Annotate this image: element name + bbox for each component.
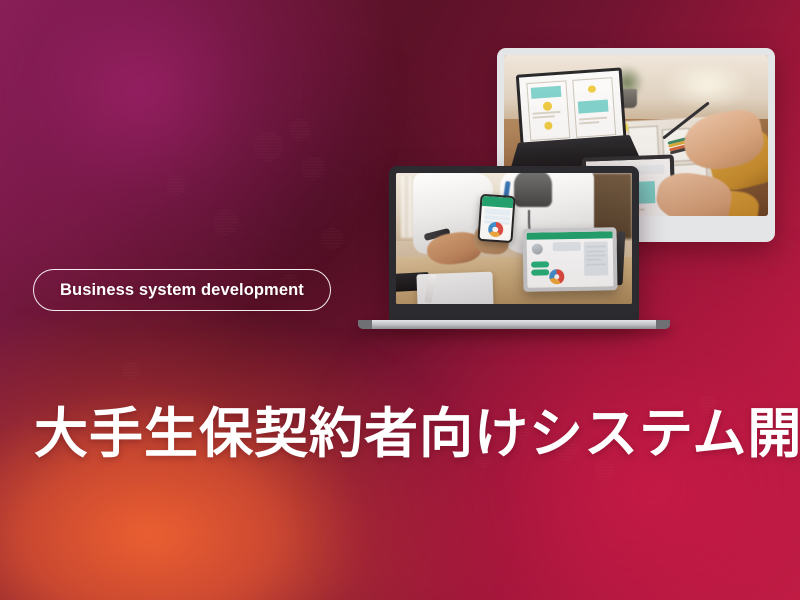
- scene-tablet-body: [523, 227, 618, 292]
- scene-tablet-donut-chart: [550, 269, 565, 284]
- page-title: 大手生保契約者向けシステム開発: [34, 404, 800, 464]
- photo-doctors-with-devices: [396, 173, 632, 304]
- category-badge: Business system development: [33, 269, 331, 311]
- scene-smartphone-screen: [479, 196, 513, 241]
- hero-banner: Business system development 大手生保契約者向けシステ…: [0, 0, 800, 600]
- category-badge-label: Business system development: [60, 281, 304, 300]
- scene-app-donut-chart: [487, 222, 503, 238]
- laptop-base: [358, 320, 670, 329]
- laptop: [389, 166, 639, 321]
- scene-doctor-collar: [514, 173, 552, 207]
- scene-tablet-on-stand: [523, 227, 618, 292]
- scene-tablet-app-screen: [527, 231, 614, 287]
- laptop-bezel: [389, 166, 639, 321]
- scene-tablet-app-header: [527, 231, 614, 240]
- scene-smartphone: [477, 194, 516, 244]
- scene-tablet-avatar: [532, 243, 543, 254]
- scene-app-header: [481, 196, 513, 209]
- laptop-screen: [396, 173, 632, 304]
